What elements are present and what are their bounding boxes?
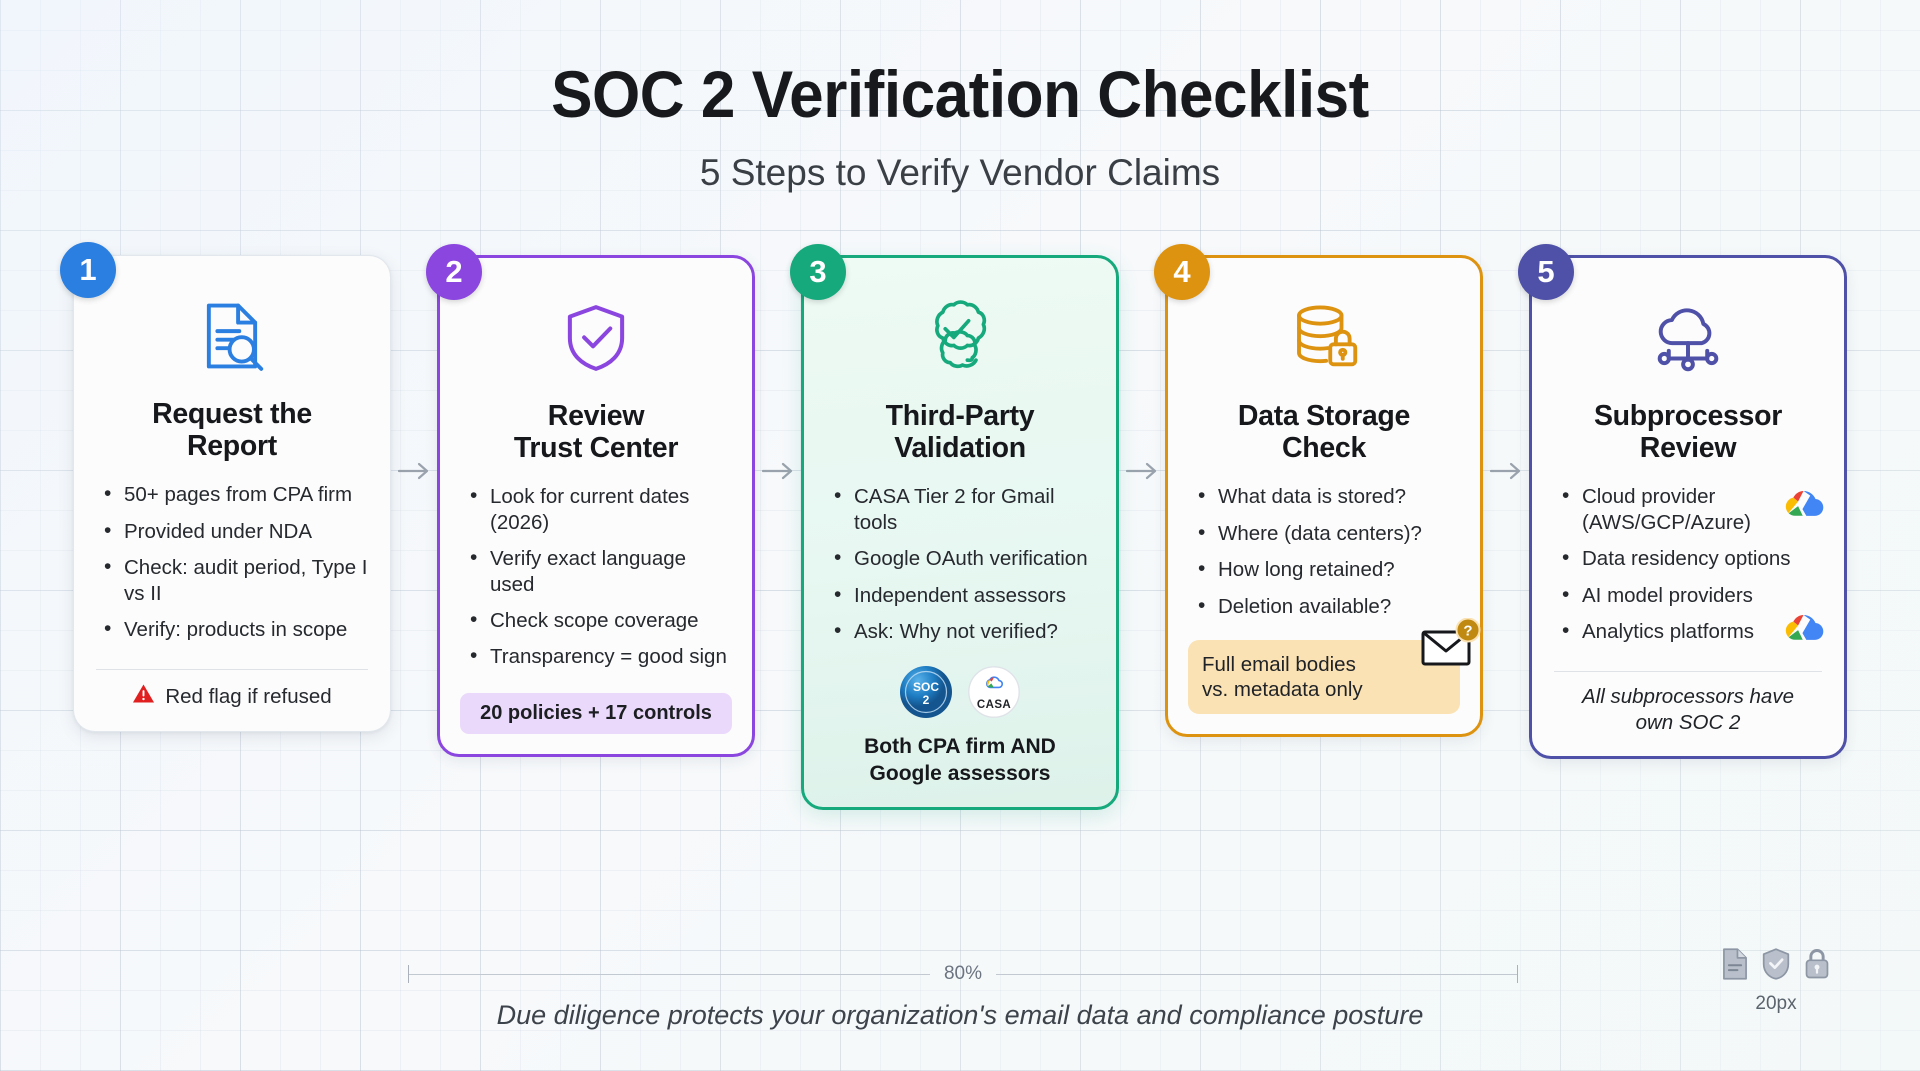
email-scope-note: Full email bodies vs. metadata only ? [1188, 640, 1460, 714]
subprocessor-note-line2: own SOC 2 [1636, 711, 1741, 734]
list-item: How long retained? [1196, 557, 1460, 582]
dimension-rule-left [409, 974, 930, 975]
policies-controls-pill: 20 policies + 17 controls [460, 693, 732, 734]
list-item: 50+ pages from CPA firm [102, 482, 370, 507]
shield-check-icon [1761, 948, 1791, 985]
card-title-line2: Check [1282, 432, 1366, 464]
list-item: Independent assessors [832, 583, 1096, 608]
header: SOC 2 Verification Checklist 5 Steps to … [0, 0, 1920, 194]
infographic-canvas: SOC 2 Verification Checklist 5 Steps to … [0, 0, 1920, 1071]
card-title-line1: Data Storage [1238, 400, 1410, 432]
spacer [460, 681, 732, 687]
document-search-icon [94, 288, 370, 384]
soc2-label-bottom: 2 [923, 693, 930, 707]
card-title-line2: Review [1640, 432, 1736, 464]
step-card-3[interactable]: 3 Third-Party Validation CASA Tier 2 for… [801, 255, 1119, 810]
card-title-line1: Request the [152, 398, 312, 430]
list-item: Data residency options [1560, 546, 1824, 571]
dimension-line: 80% [408, 963, 1518, 985]
red-flag-text: Red flag if refused [165, 685, 331, 709]
step-card-slot-5: 5 Subprocessor Review Cloud provider ( [1529, 255, 1847, 759]
soc2-badge-icon: SOC 2 [899, 665, 953, 724]
steps-row: 1 Request the Report 50+ pages from CP [0, 255, 1920, 810]
list-item: Ask: Why not verified? [832, 619, 1096, 644]
spacer [824, 655, 1096, 661]
card-bullets-3: CASA Tier 2 for Gmail tools Google OAuth… [824, 484, 1096, 655]
dimension-value: 80% [930, 963, 996, 985]
list-item: Check: audit period, Type I vs II [102, 555, 370, 606]
list-item: What data is stored? [1196, 484, 1460, 509]
list-item: Google OAuth verification [832, 546, 1096, 571]
list-item: Where (data centers)? [1196, 521, 1460, 546]
step-number-badge-2: 2 [426, 244, 482, 300]
list-item: Deletion available? [1196, 594, 1460, 619]
card-bullets-1: 50+ pages from CPA firm Provided under N… [94, 482, 370, 653]
card-title-2: Review Trust Center [460, 400, 732, 464]
assessor-logos: SOC 2 CASA [824, 665, 1096, 724]
step-number-badge-4: 4 [1154, 244, 1210, 300]
card-title-line1: Review [548, 400, 644, 432]
document-icon [1720, 948, 1750, 985]
card-title-line2: Report [187, 430, 277, 462]
page-title: SOC 2 Verification Checklist [58, 56, 1863, 132]
step-card-1[interactable]: 1 Request the Report 50+ pages from CP [73, 255, 391, 732]
legend-icon-scale: 20px [1720, 948, 1832, 1015]
step-card-slot-1: 1 Request the Report 50+ pages from CP [73, 255, 391, 732]
subprocessor-note-line1: All subprocessors have [1582, 685, 1794, 708]
shield-check-icon [460, 290, 732, 386]
dimension-cap-right [1517, 965, 1518, 983]
list-item: Check scope coverage [468, 608, 732, 633]
list-item: Verify exact language used [468, 546, 732, 597]
list-item: CASA Tier 2 for Gmail tools [832, 484, 1096, 535]
red-flag-note: Red flag if refused [94, 682, 370, 711]
card-bullets-5: Cloud provider (AWS/GCP/Azure) Data resi… [1552, 484, 1824, 655]
email-scope-note-line2: vs. metadata only [1202, 678, 1363, 701]
assessors-caption-line2: Google assessors [870, 762, 1051, 785]
arrow-right-icon [391, 460, 437, 482]
step-number-badge-5: 5 [1518, 244, 1574, 300]
arrow-right-icon [1483, 460, 1529, 482]
list-item: Verify: products in scope [102, 617, 370, 642]
footer-tagline: Due diligence protects your organization… [0, 1000, 1920, 1031]
card-title-3: Third-Party Validation [824, 400, 1096, 464]
card-title-4: Data Storage Check [1188, 400, 1460, 464]
spacer [1552, 655, 1824, 661]
legend-label: 20px [1720, 993, 1832, 1015]
assessors-caption-line1: Both CPA firm AND [864, 735, 1056, 758]
list-item: Transparency = good sign [468, 644, 732, 669]
legend-icons [1720, 948, 1832, 985]
arrow-right-icon [1119, 460, 1165, 482]
step-number-badge-1: 1 [60, 242, 116, 298]
step-card-slot-3: 3 Third-Party Validation CASA Tier 2 for… [801, 255, 1119, 810]
spacer [94, 653, 370, 659]
warning-triangle-icon [132, 682, 155, 711]
list-item: Look for current dates (2026) [468, 484, 732, 535]
certified-seal-icon [824, 290, 1096, 386]
card-title-line2: Trust Center [514, 432, 678, 464]
list-item: Provided under NDA [102, 519, 370, 544]
envelope-question-icon: ? [1420, 618, 1482, 676]
soc2-label-top: SOC [913, 680, 939, 694]
card-title-5: Subprocessor Review [1552, 400, 1824, 464]
lock-icon [1802, 948, 1832, 985]
card-bullets-2: Look for current dates (2026) Verify exa… [460, 484, 732, 680]
arrow-right-icon [755, 460, 801, 482]
email-scope-note-line1: Full email bodies [1202, 653, 1356, 676]
divider [96, 669, 368, 670]
step-number-badge-3: 3 [790, 244, 846, 300]
card-title-line1: Third-Party [886, 400, 1035, 432]
database-lock-icon [1188, 290, 1460, 386]
page-subtitle: 5 Steps to Verify Vendor Claims [0, 152, 1920, 194]
google-cloud-icon [1784, 488, 1826, 529]
list-item: AI model providers [1560, 583, 1824, 608]
assessors-caption: Both CPA firm AND Google assessors [824, 734, 1096, 787]
divider [1554, 671, 1822, 672]
card-title-1: Request the Report [94, 398, 370, 462]
step-card-4[interactable]: 4 Data Storage Check [1165, 255, 1483, 737]
casa-label: CASA [977, 699, 1011, 711]
step-card-5[interactable]: 5 Subprocessor Review Cloud provider ( [1529, 255, 1847, 759]
cloud-network-icon [1552, 290, 1824, 386]
svg-text:?: ? [1463, 623, 1472, 640]
card-title-line2: Validation [894, 432, 1026, 464]
card-title-line1: Subprocessor [1594, 400, 1782, 432]
subprocessor-note: All subprocessors have own SOC 2 [1552, 684, 1824, 735]
google-cloud-icon [1784, 612, 1826, 653]
step-card-slot-2: 2 Review Trust Center Look for current d… [437, 255, 755, 757]
casa-badge-icon: CASA [967, 665, 1021, 724]
step-card-2[interactable]: 2 Review Trust Center Look for current d… [437, 255, 755, 757]
step-card-slot-4: 4 Data Storage Check [1165, 255, 1483, 737]
card-bullets-4: What data is stored? Where (data centers… [1188, 484, 1460, 630]
dimension-rule-right [996, 974, 1517, 975]
